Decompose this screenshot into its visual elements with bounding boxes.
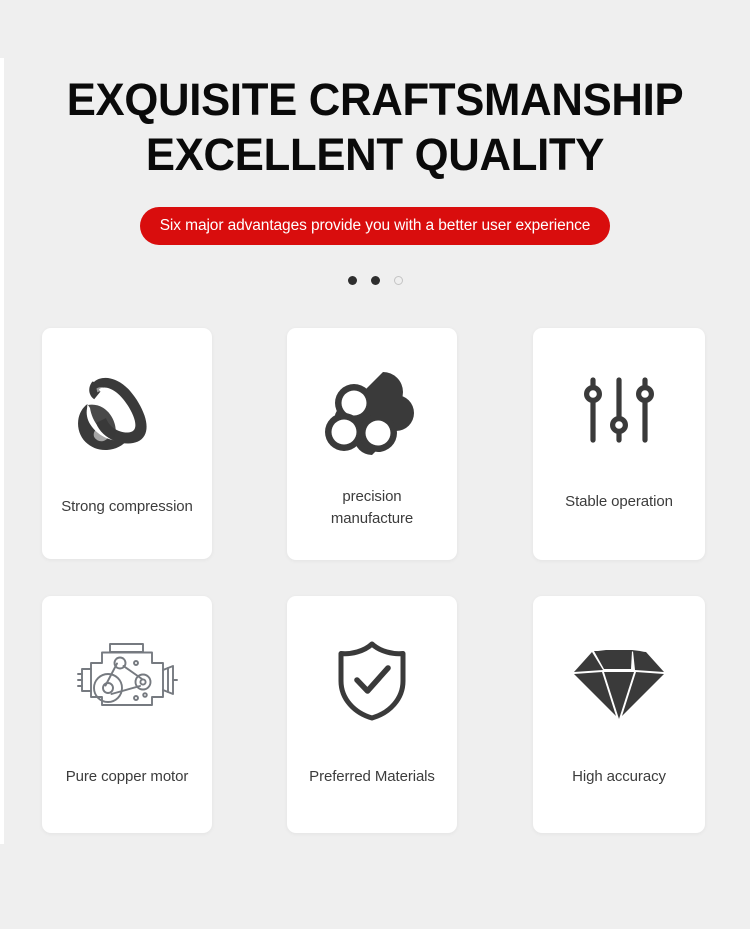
feature-card-label: High accuracy: [533, 766, 705, 787]
promo-page: EXQUISITE CRAFTSMANSHIP EXCELLENT QUALIT…: [0, 0, 750, 929]
carousel-dot-1[interactable]: [348, 276, 357, 285]
page-title: EXQUISITE CRAFTSMANSHIP EXCELLENT QUALIT…: [11, 72, 739, 182]
carousel-dot-3[interactable]: [394, 276, 403, 285]
shield-check-icon: [287, 596, 457, 766]
feature-card-preferred-materials[interactable]: Preferred Materials: [287, 596, 457, 833]
carousel-dots[interactable]: [0, 276, 750, 285]
feature-card-label: precision manufacture: [287, 486, 457, 530]
feature-card-label-line-1: precision: [342, 488, 401, 505]
feature-card-high-accuracy[interactable]: High accuracy: [533, 596, 705, 833]
subtitle-badge-container: Six major advantages provide you with a …: [0, 207, 750, 245]
feature-card-label: Preferred Materials: [287, 766, 457, 787]
subtitle-badge: Six major advantages provide you with a …: [140, 207, 611, 245]
feature-card-strong-compression[interactable]: Strong compression: [42, 328, 212, 559]
carousel-dot-2[interactable]: [371, 276, 380, 285]
feature-card-label-line-2: manufacture: [331, 510, 413, 527]
feature-card-stable-operation[interactable]: Stable operation: [533, 328, 705, 560]
page-title-line-2: EXCELLENT QUALITY: [11, 127, 739, 182]
feature-card-label: Strong compression: [42, 496, 212, 517]
feature-card-label: Pure copper motor: [42, 766, 212, 787]
sliders-equalizer-icon: [533, 328, 705, 491]
three-rings-pipes-icon: [287, 328, 457, 486]
feature-card-pure-copper-motor[interactable]: Pure copper motor: [42, 596, 212, 833]
flexed-bicep-icon: [42, 328, 212, 496]
feature-card-label: Stable operation: [533, 491, 705, 512]
page-title-line-1: EXQUISITE CRAFTSMANSHIP: [11, 72, 739, 127]
feature-card-precision-manufacture[interactable]: precision manufacture: [287, 328, 457, 560]
left-edge-strip: [0, 58, 4, 844]
diamond-gem-icon: [533, 596, 705, 766]
engine-motor-icon: [42, 596, 212, 766]
